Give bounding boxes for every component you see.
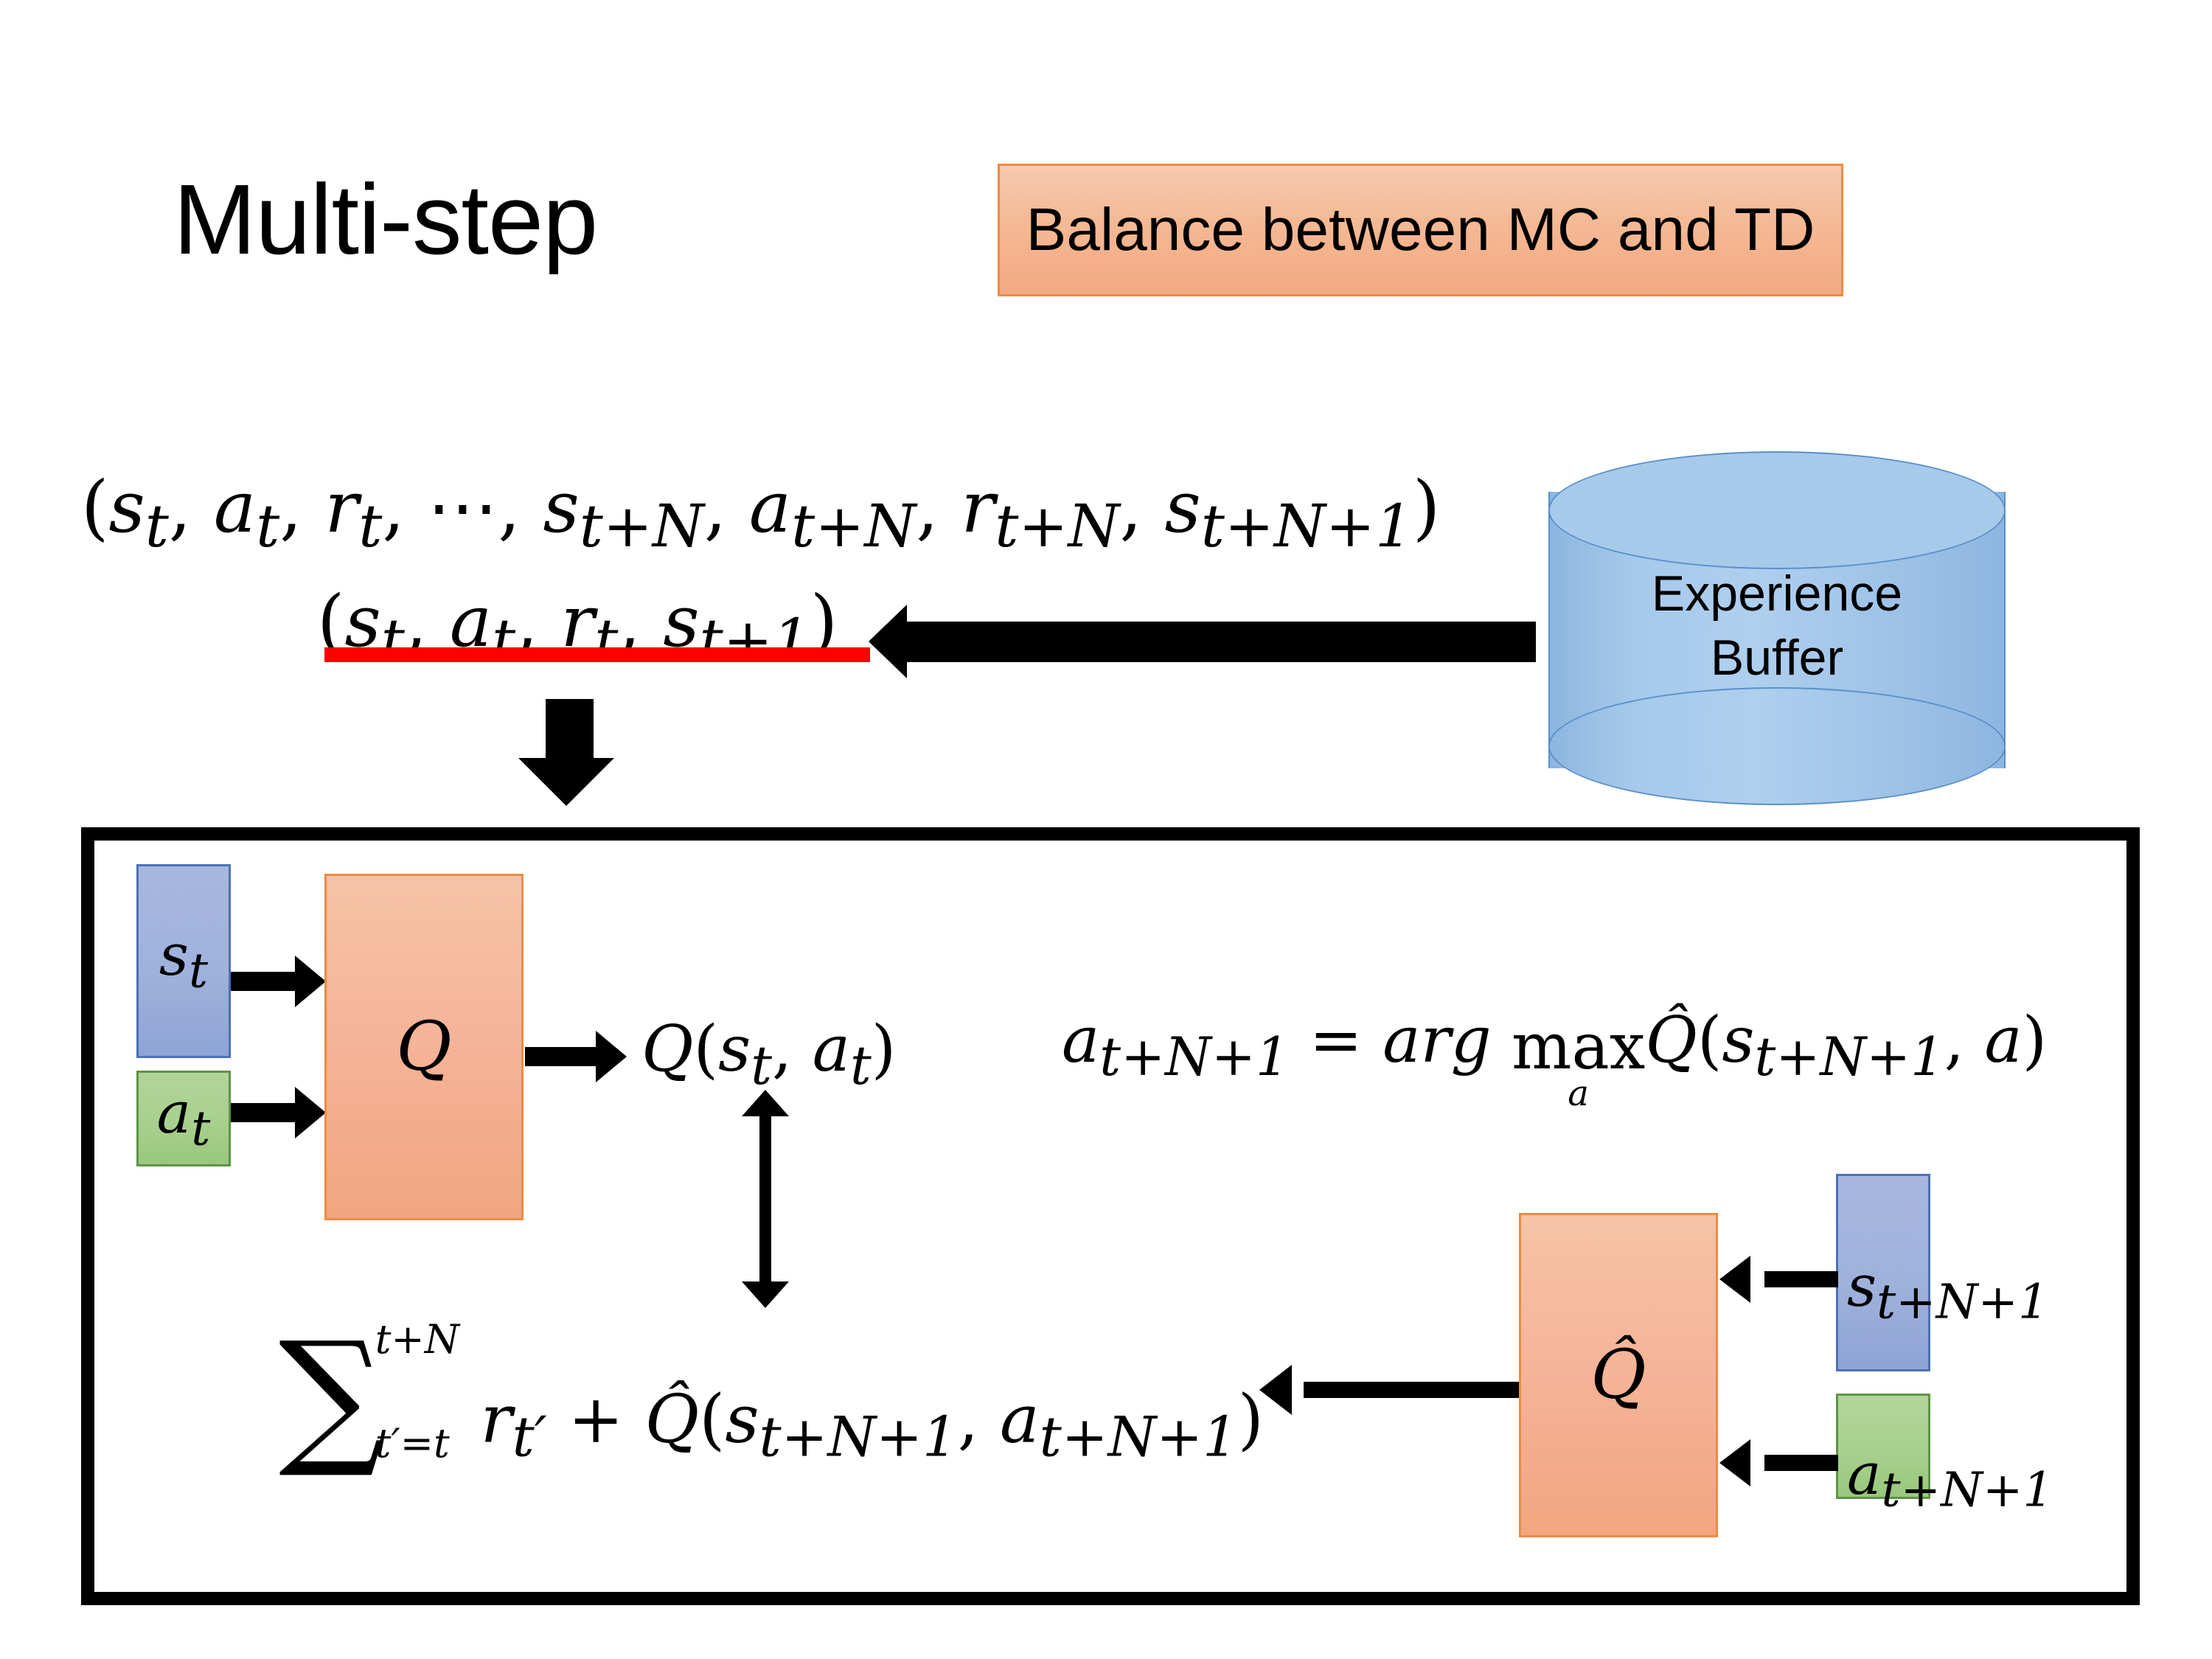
target-qhat: Q̂ <box>644 1381 699 1458</box>
target-arg-state: s <box>725 1381 759 1458</box>
q-arg-state: s <box>718 1012 751 1086</box>
down-flow-arrow-head <box>518 758 614 806</box>
argmax-arg: arg <box>1382 1004 1491 1077</box>
down-flow-arrow-shaft <box>546 699 594 762</box>
online-q-network-box: Q <box>324 874 524 1220</box>
argmax-lhs: a <box>1062 1004 1099 1077</box>
argmax-action-equation: at+N+1 = arg maxaQ̂(st+N+1, a) <box>1062 1009 2047 1111</box>
n-step-transition-tuple: (st, at, rt, ⋯, st+N, at+N, rt+N, st+N+1… <box>81 472 1440 556</box>
target-q-network-box: Q̂ <box>1519 1213 1718 1537</box>
callout-banner: Balance between MC and TD <box>998 164 1843 296</box>
cylinder-top-ellipse <box>1548 451 2006 569</box>
summation-lower-limit: t′=t <box>375 1424 459 1464</box>
state-to-target-q-arrow-shaft <box>1764 1271 1838 1287</box>
paren-open: ( <box>81 466 108 549</box>
argmax-arg-action: a <box>1984 1004 2022 1077</box>
input-label-state-t: st <box>159 927 208 995</box>
target-arg-action: a <box>1000 1381 1040 1458</box>
action-to-q-arrow-head <box>295 1087 326 1138</box>
td-error-double-arrow-head-up <box>742 1090 789 1116</box>
target-q-network-label: Q̂ <box>1590 1341 1646 1409</box>
tuple-term-a-t: a <box>214 466 256 549</box>
tuple-term-r-tN-sub: t+N <box>995 492 1119 560</box>
tuple-term-a-t-sub: t <box>256 492 279 560</box>
state-to-q-arrow-head <box>295 956 326 1007</box>
tuple-term-r-tN: r <box>961 466 995 549</box>
summation-upper-limit: t+N <box>375 1320 459 1360</box>
buffer-sample-arrow-head <box>869 605 907 678</box>
tuple-term-a-tN-sub: t+N <box>791 492 916 560</box>
summation-group: ∑ t+N t′=t <box>279 1320 459 1464</box>
td-error-double-arrow-shaft <box>759 1110 771 1287</box>
tuple-term-s-tN1: s <box>1164 466 1200 549</box>
tuple-term-r-t: r <box>324 466 358 549</box>
q-arg-action: a <box>813 1012 850 1086</box>
experience-buffer-cylinder: Experience Buffer <box>1548 451 2006 805</box>
callout-banner-label: Balance between MC and TD <box>1026 195 1815 265</box>
action-to-q-arrow-shaft <box>231 1103 301 1122</box>
page-title: Multi-step <box>173 170 597 269</box>
summation-limits: t+N t′=t <box>375 1320 459 1464</box>
experience-buffer-label-line1: Experience <box>1548 562 2006 626</box>
target-q-to-target-equation-arrow-shaft <box>1304 1382 1519 1398</box>
cylinder-bottom-ellipse <box>1548 687 2006 805</box>
argmax-qhat: Q̂ <box>1645 1004 1697 1077</box>
input-label-action-tN1: at+N+1 <box>1847 1441 2053 1518</box>
tuple-term-s-t-sub: t <box>145 492 169 560</box>
struck-term-s-sub: t <box>381 606 405 675</box>
tuple-ellipsis: ⋯ <box>427 466 498 549</box>
q-fn: Q <box>641 1012 694 1086</box>
online-q-network-label: Q <box>396 1013 451 1081</box>
argmax-arg-state: s <box>1722 1004 1754 1077</box>
red-strikethrough-line <box>324 647 870 662</box>
paren-close: ) <box>1413 466 1440 549</box>
input-label-action-t: at <box>157 1085 211 1153</box>
tuple-term-s-tN-sub: t+N <box>580 492 704 560</box>
input-label-state-tN1: st+N+1 <box>1847 1253 2048 1330</box>
argmax-equals: = <box>1310 1004 1363 1077</box>
target-q-to-target-equation-arrow-head <box>1259 1365 1292 1415</box>
tuple-term-s-tN1-sub: t+N+1 <box>1201 492 1413 560</box>
n-step-target-equation: ∑ t+N t′=t rt′ + Q̂(st+N+1, at+N+1) <box>279 1320 1264 1465</box>
struck-term-r-sub: t <box>594 606 618 675</box>
target-plus: + <box>568 1381 623 1458</box>
input-box-action-t: at <box>136 1071 231 1166</box>
state-to-target-q-arrow-head <box>1719 1256 1750 1303</box>
buffer-sample-arrow-shaft <box>905 622 1536 662</box>
summation-symbol: ∑ <box>279 1343 384 1450</box>
q-to-output-arrow-shaft <box>525 1047 602 1066</box>
action-to-target-q-arrow-shaft <box>1764 1455 1838 1471</box>
tuple-term-a-tN: a <box>749 466 791 549</box>
tuple-term-r-t-sub: t <box>358 492 382 560</box>
argmax-max-operator: maxa <box>1512 1018 1645 1112</box>
state-to-q-arrow-shaft <box>231 972 301 991</box>
tuple-term-s-t: s <box>108 466 145 549</box>
tuple-term-s-tN: s <box>543 466 579 549</box>
td-error-double-arrow-head-down <box>742 1281 789 1308</box>
experience-buffer-label-line2: Buffer <box>1548 626 2006 690</box>
q-to-output-arrow-head <box>596 1031 627 1082</box>
target-reward: r <box>481 1381 512 1458</box>
input-box-state-t: st <box>136 864 231 1058</box>
experience-buffer-label: Experience Buffer <box>1548 562 2006 690</box>
action-to-target-q-arrow-head <box>1719 1439 1750 1486</box>
struck-term-s1-sub: t+1 <box>700 606 810 675</box>
q-value-expression: Q(st, at) <box>641 1018 896 1093</box>
struck-term-a-sub: t <box>492 606 515 675</box>
